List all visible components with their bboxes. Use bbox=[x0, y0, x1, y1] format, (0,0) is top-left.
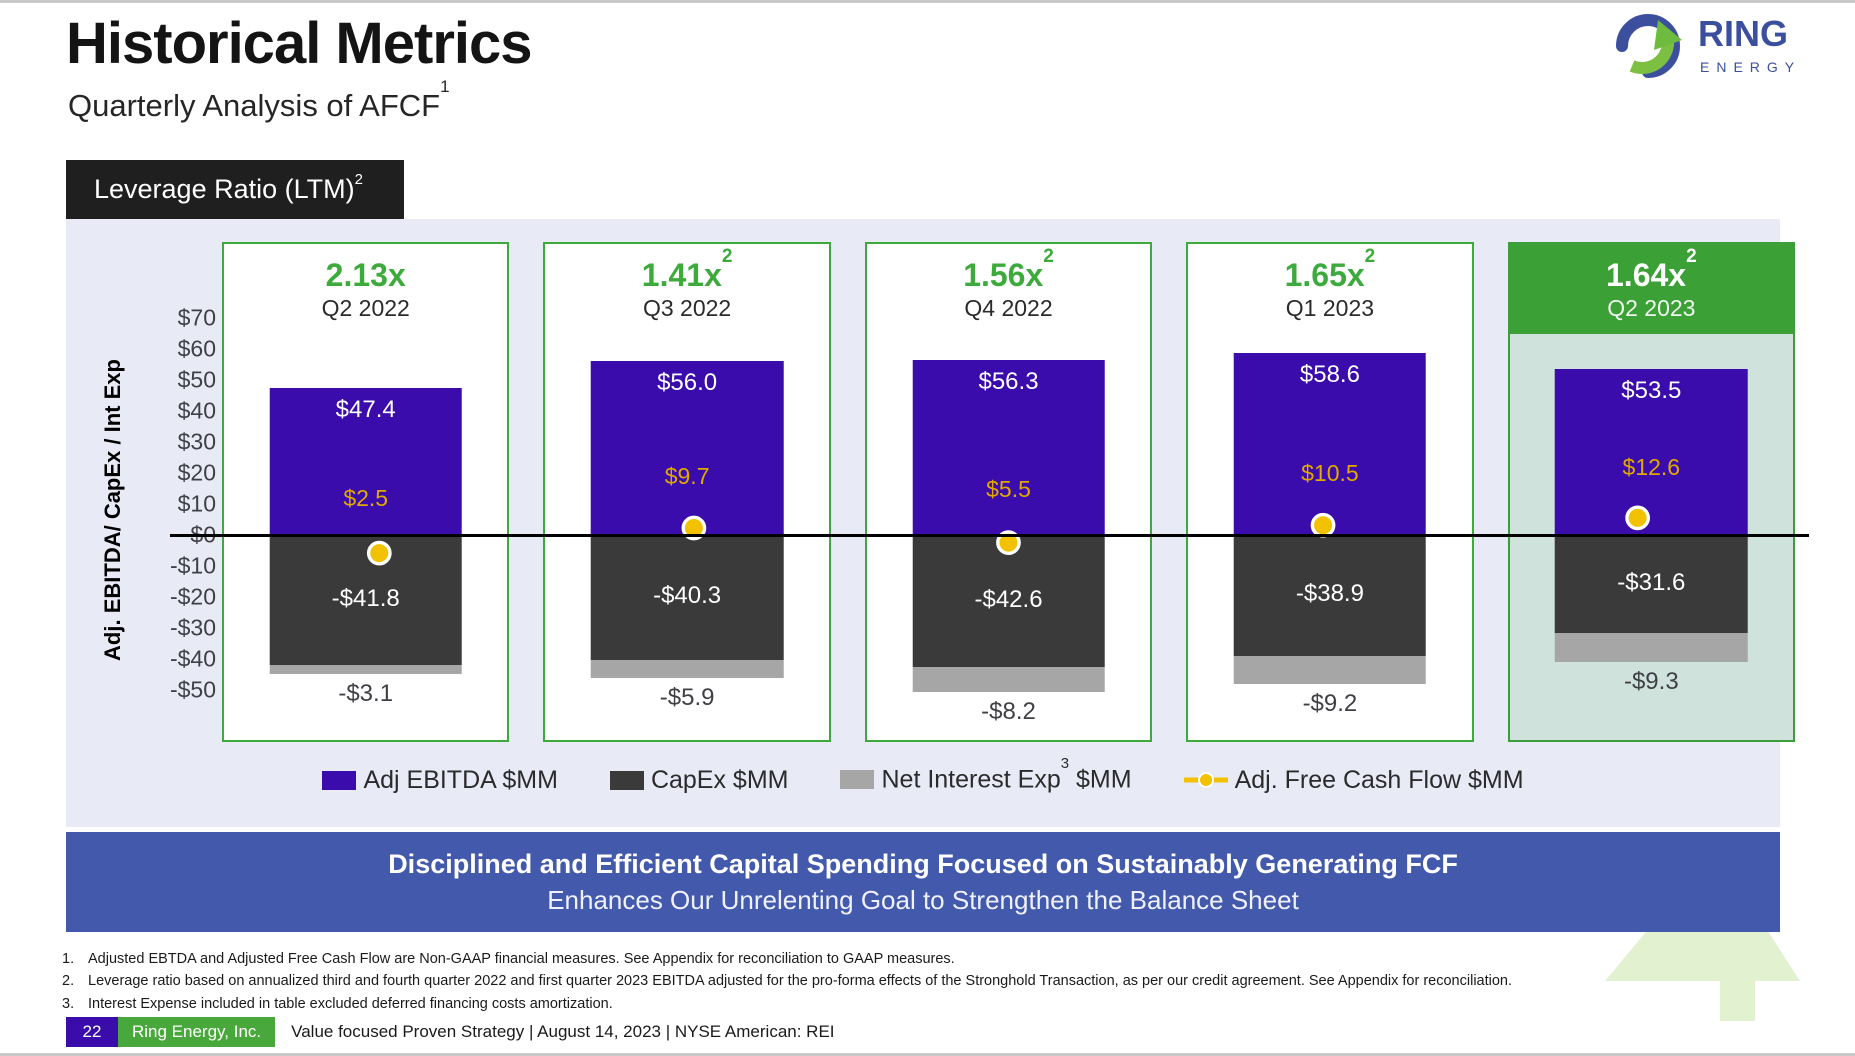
leverage-ratio-value: 1.41x2 bbox=[545, 258, 828, 293]
afcf-line-series bbox=[222, 318, 1795, 1056]
legend-label: Adj EBITDA $MM bbox=[363, 766, 558, 795]
page-subtitle-text: Quarterly Analysis of AFCF bbox=[68, 88, 440, 123]
y-tick-label: $30 bbox=[178, 429, 216, 456]
page-subtitle-footnote-ref: 1 bbox=[440, 77, 449, 96]
logo-energy-text: ENERGY bbox=[1700, 59, 1801, 75]
leverage-ratio-footnote-ref: 2 bbox=[355, 171, 363, 188]
legend-label: CapEx $MM bbox=[651, 766, 789, 795]
leverage-ratio-sup: 2 bbox=[1043, 246, 1054, 267]
y-tick-label: -$30 bbox=[170, 615, 216, 642]
legend-swatch bbox=[322, 771, 356, 790]
y-tick-label: $70 bbox=[178, 305, 216, 332]
quarter-card-header: 1.56x2Q4 2022 bbox=[867, 244, 1150, 322]
ring-energy-logo: RING ENERGY bbox=[1602, 10, 1837, 82]
leverage-ratio-value: 1.64x2 bbox=[1510, 258, 1793, 293]
footnote-number: 2. bbox=[62, 970, 88, 992]
leverage-ratio-sup: 2 bbox=[1365, 246, 1376, 267]
top-rule bbox=[0, 0, 1855, 3]
y-tick-label: -$40 bbox=[170, 646, 216, 673]
y-tick-label: -$10 bbox=[170, 553, 216, 580]
y-tick-label: $10 bbox=[178, 491, 216, 518]
y-tick-label: -$50 bbox=[170, 677, 216, 704]
legend-swatch bbox=[610, 771, 644, 790]
leverage-ratio-badge: Leverage Ratio (LTM)2 bbox=[66, 160, 404, 219]
legend-item[interactable]: Adj. Free Cash Flow $MM bbox=[1184, 766, 1524, 795]
legend-item[interactable]: Net Interest Exp3 $MM bbox=[840, 765, 1131, 794]
leverage-ratio-label: Leverage Ratio (LTM) bbox=[94, 174, 355, 205]
y-tick-label: $20 bbox=[178, 460, 216, 487]
company-name-badge: Ring Energy, Inc. bbox=[118, 1017, 275, 1047]
leverage-ratio-value: 1.56x2 bbox=[867, 258, 1150, 293]
leverage-ratio-value: 1.65x2 bbox=[1188, 258, 1471, 293]
y-tick-label: -$20 bbox=[170, 584, 216, 611]
slide-footer: 22 Ring Energy, Inc. Value focused Prove… bbox=[66, 1017, 835, 1047]
plot-area: $47.4-$41.8-$3.1$2.5$56.0-$40.3-$5.9$9.7… bbox=[222, 318, 1795, 690]
y-tick-label: $60 bbox=[178, 336, 216, 363]
footnote-number: 1. bbox=[62, 948, 88, 970]
legend-line-marker-icon bbox=[1184, 770, 1228, 790]
legend-swatch bbox=[840, 770, 874, 789]
page-number-badge: 22 bbox=[66, 1017, 118, 1047]
legend-item[interactable]: CapEx $MM bbox=[610, 766, 789, 795]
quarter-card-header: 2.13xQ2 2022 bbox=[224, 244, 507, 322]
quarter-card-header: 1.41x2Q3 2022 bbox=[545, 244, 828, 322]
svg-text:RING: RING bbox=[1698, 13, 1788, 54]
footer-tagline: Value focused Proven Strategy | August 1… bbox=[275, 1017, 834, 1047]
page-subtitle: Quarterly Analysis of AFCF1 bbox=[68, 88, 450, 124]
legend-label: Net Interest Exp3 $MM bbox=[881, 765, 1131, 794]
page-title: Historical Metrics bbox=[66, 14, 532, 75]
y-tick-label: $50 bbox=[178, 367, 216, 394]
footnote-number: 3. bbox=[62, 993, 88, 1015]
leverage-ratio-value: 2.13x bbox=[224, 258, 507, 293]
y-axis-title: Adj. EBITDA/ CapEx / Int Exp bbox=[96, 330, 130, 690]
legend-label: Adj. Free Cash Flow $MM bbox=[1235, 766, 1524, 795]
y-axis-tick-labels: $70$60$50$40$30$20$10$0-$10-$20-$30-$40-… bbox=[128, 318, 216, 690]
y-tick-label: $40 bbox=[178, 398, 216, 425]
legend-item[interactable]: Adj EBITDA $MM bbox=[322, 766, 558, 795]
chart-legend: Adj EBITDA $MMCapEx $MMNet Interest Exp3… bbox=[66, 752, 1780, 808]
leverage-ratio-sup: 2 bbox=[722, 246, 733, 267]
leverage-ratio-sup: 2 bbox=[1686, 246, 1697, 267]
slide-root: Historical Metrics Quarterly Analysis of… bbox=[0, 0, 1855, 1056]
quarter-card-header: 1.65x2Q1 2023 bbox=[1188, 244, 1471, 322]
legend-footnote-ref: 3 bbox=[1061, 755, 1069, 772]
